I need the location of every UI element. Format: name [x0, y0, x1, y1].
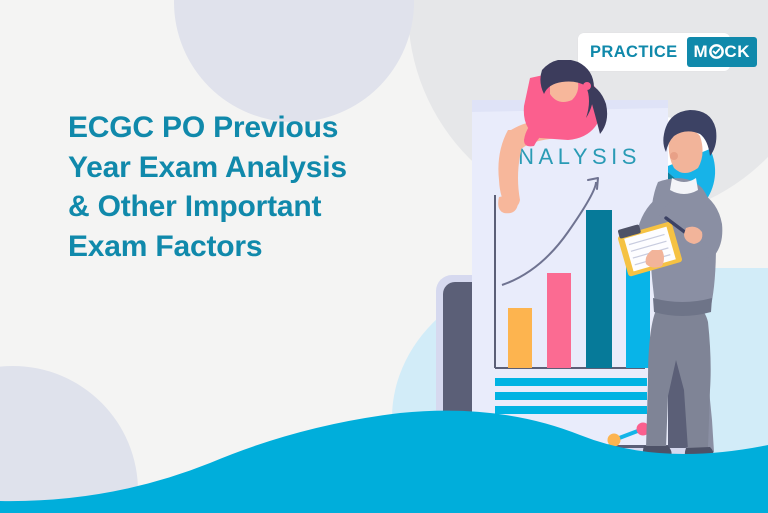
logo-mock-m: M [694, 43, 709, 60]
page-title: ECGC PO Previous Year Exam Analysis & Ot… [68, 108, 438, 266]
page-title-line-2: Year Exam Analysis [68, 148, 438, 188]
banner-root: ECGC PO Previous Year Exam Analysis & Ot… [0, 0, 768, 513]
decor-bottom-wave [0, 353, 768, 513]
page-title-line-4: Exam Factors [68, 227, 438, 267]
bar-4 [626, 260, 650, 368]
page-title-line-1: ECGC PO Previous [68, 108, 438, 148]
logo-word-practice: PRACTICE [590, 44, 678, 61]
page-title-line-3: & Other Important [68, 187, 438, 227]
logo-mock-ck: CK [724, 43, 750, 60]
decor-circle-top-left [174, 0, 414, 122]
check-circle-icon [709, 44, 724, 59]
bar-3 [586, 210, 612, 368]
